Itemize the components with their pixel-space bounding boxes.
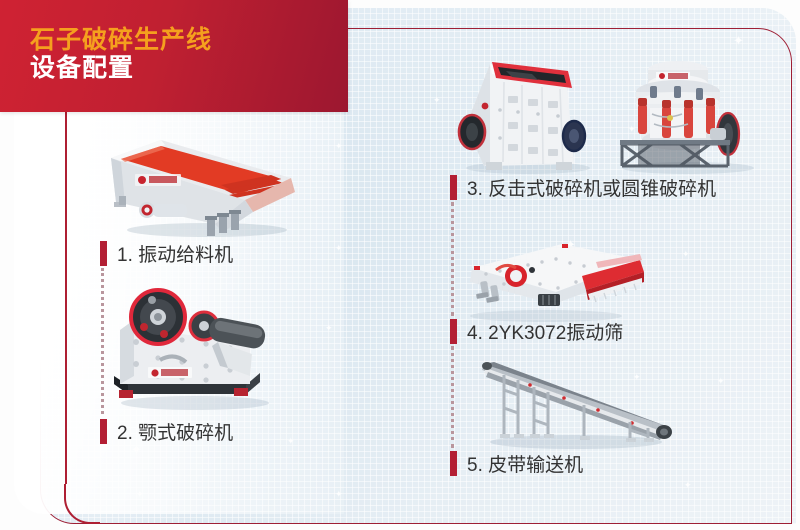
jaw-crusher-image <box>100 272 295 412</box>
sparkle-icon: ✦ <box>433 96 441 105</box>
step-label-text: 1. 振动给料机 <box>117 240 233 267</box>
sparkle-icon: ✦ <box>73 179 84 192</box>
title-banner: 石子破碎生产线 设备配置 <box>0 0 348 112</box>
step-marker-bar <box>450 319 457 344</box>
sparkle-icon: ✦ <box>717 377 725 386</box>
step-label-3[interactable]: 3. 反击式破碎机或圆锥破碎机 <box>450 174 716 201</box>
step-marker-bar <box>450 451 457 476</box>
sparkle-icon: ✦ <box>335 142 343 151</box>
step-label-2[interactable]: 2. 颚式破碎机 <box>100 418 233 445</box>
step-label-4[interactable]: 4. 2YK3072振动筛 <box>450 318 623 345</box>
sparkle-icon: ✦ <box>287 437 295 446</box>
sparkle-icon: ✦ <box>325 324 333 333</box>
sparkle-icon: ✦ <box>684 481 692 490</box>
sparkle-icon: ✦ <box>733 34 744 47</box>
poster-canvas: ✦ ✦ ✦ ✦ ✦ ✦ ✦ ✦ ✦ ✦ ✦ ✦ ✦ ✦ ✦ ✦ ✦ ✦ ✦ ✦ … <box>0 0 800 530</box>
step-marker-bar <box>100 419 107 444</box>
left-red-guide-line <box>65 96 67 484</box>
step-label-text: 4. 2YK3072振动筛 <box>467 318 623 345</box>
step-label-text: 3. 反击式破碎机或圆锥破碎机 <box>467 174 716 201</box>
sparkle-icon: ✦ <box>136 490 144 499</box>
step-connector-4-5 <box>451 346 454 448</box>
sparkle-icon: ✦ <box>335 244 343 253</box>
belt-conveyor-image <box>472 356 678 452</box>
vibrating-feeder-image <box>95 118 300 238</box>
step-label-5[interactable]: 5. 皮带输送机 <box>450 450 583 477</box>
title-line-1: 石子破碎生产线 <box>30 26 348 54</box>
step-label-text: 2. 颚式破碎机 <box>117 418 233 445</box>
cone-crusher-image <box>604 48 774 174</box>
sparkle-icon: ✦ <box>682 250 690 259</box>
step-marker-bar <box>450 175 457 200</box>
title-line-2: 设备配置 <box>30 54 348 82</box>
step-label-1[interactable]: 1. 振动给料机 <box>100 240 233 267</box>
sparkle-icon: ✦ <box>335 490 343 499</box>
vibrating-screen-image <box>446 232 646 322</box>
impact-crusher-image <box>446 44 606 174</box>
step-label-text: 5. 皮带输送机 <box>467 450 583 477</box>
step-marker-bar <box>100 241 107 266</box>
